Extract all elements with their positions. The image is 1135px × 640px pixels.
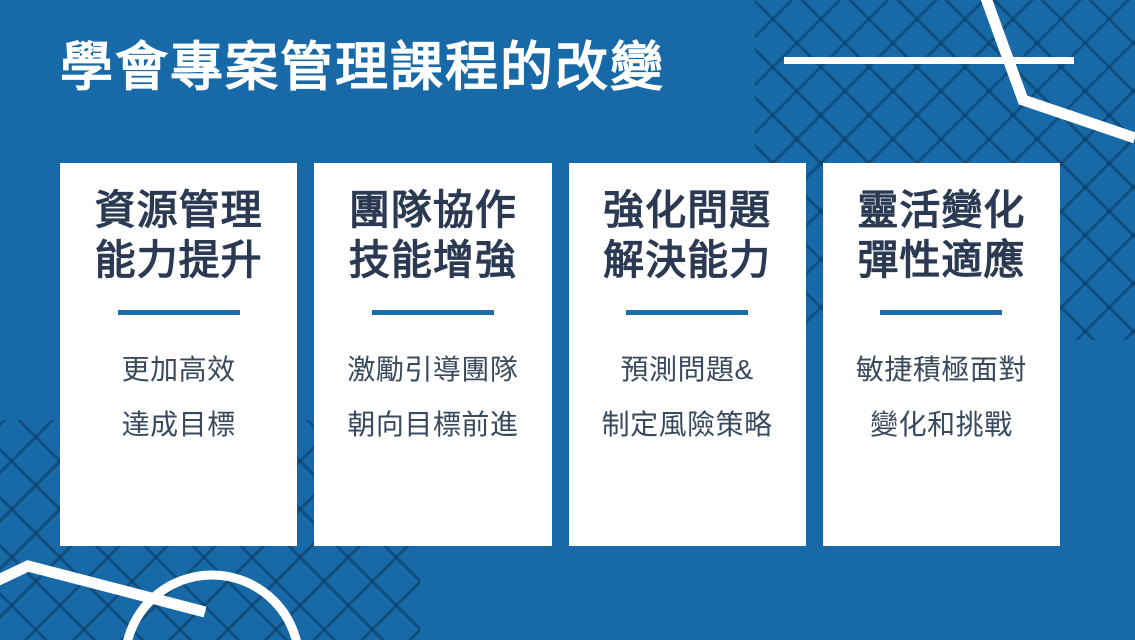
card-heading-line1: 靈活變化	[857, 185, 1025, 235]
card-body-line2: 變化和挑戰	[856, 398, 1027, 453]
card-heading-line1: 資源管理	[95, 185, 263, 235]
card-heading-line2: 技能增強	[349, 235, 517, 285]
card-heading: 資源管理 能力提升	[95, 185, 263, 285]
card-heading-line1: 團隊協作	[349, 185, 517, 235]
card-divider	[626, 310, 748, 315]
title-accent-rule	[784, 57, 1074, 64]
card-body-line1: 預測問題&	[602, 343, 773, 398]
card-divider	[880, 310, 1002, 315]
card-body: 激勵引導團隊 朝向目標前進	[347, 343, 518, 452]
card-body: 敏捷積極面對 變化和挑戰	[856, 343, 1027, 452]
card-team-collaboration[interactable]: 團隊協作 技能增強 激勵引導團隊 朝向目標前進	[314, 163, 551, 546]
card-heading: 靈活變化 彈性適應	[857, 185, 1025, 285]
card-heading-line2: 能力提升	[95, 235, 263, 285]
slide-title: 學會專案管理課程的改變	[60, 38, 665, 99]
card-body: 預測問題& 制定風險策略	[602, 343, 773, 452]
polyline-bottom-left-icon	[0, 566, 205, 612]
card-flexibility-adaptation[interactable]: 靈活變化 彈性適應 敏捷積極面對 變化和挑戰	[823, 163, 1060, 546]
card-grid: 資源管理 能力提升 更加高效 達成目標 團隊協作 技能增強 激勵引導團隊 朝向目…	[60, 163, 1060, 546]
card-heading-line2: 解決能力	[603, 235, 771, 285]
slide-canvas: 學會專案管理課程的改變 資源管理 能力提升 更加高效 達成目標 團隊協作 技能增…	[0, 0, 1135, 640]
card-body-line1: 敏捷積極面對	[856, 343, 1027, 398]
card-problem-solving[interactable]: 強化問題 解決能力 預測問題& 制定風險策略	[569, 163, 806, 546]
polyline-top-right-icon	[983, 0, 1135, 138]
card-body-line1: 激勵引導團隊	[347, 343, 518, 398]
circle-outline-bottom-left-icon	[125, 575, 299, 640]
card-heading: 強化問題 解決能力	[603, 185, 771, 285]
card-divider	[118, 310, 240, 315]
card-body-line1: 更加高效	[122, 343, 236, 398]
card-body-line2: 達成目標	[122, 398, 236, 453]
card-body-line2: 制定風險策略	[602, 398, 773, 453]
card-body: 更加高效 達成目標	[122, 343, 236, 452]
card-divider	[372, 310, 494, 315]
card-heading-line1: 強化問題	[603, 185, 771, 235]
card-heading-line2: 彈性適應	[857, 235, 1025, 285]
card-resource-management[interactable]: 資源管理 能力提升 更加高效 達成目標	[60, 163, 297, 546]
card-body-line2: 朝向目標前進	[347, 398, 518, 453]
card-heading: 團隊協作 技能增強	[349, 185, 517, 285]
